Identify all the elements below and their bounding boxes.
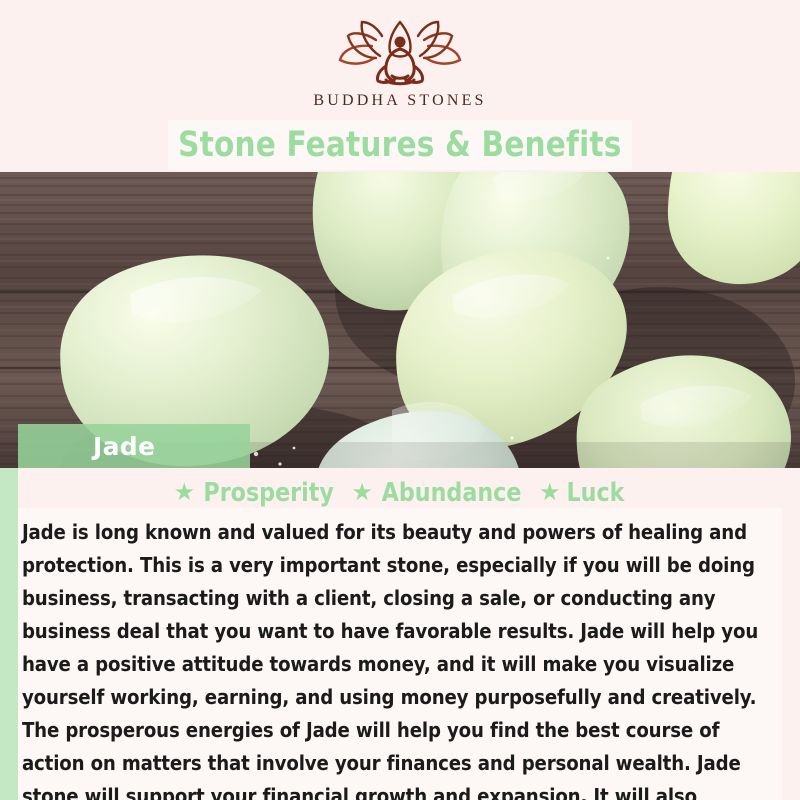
star-icon: ★: [539, 481, 561, 505]
description-text: Jade is long known and valued for its be…: [18, 516, 771, 800]
page-title: Stone Features & Benefits: [178, 125, 621, 165]
benefit-item-abundance: ★ Abundance: [351, 478, 525, 508]
section-title-banner: Stone Features & Benefits: [168, 120, 632, 170]
brand-name: BUDDHA STONES: [0, 92, 800, 110]
infographic-page: BUDDHA STONES Stone Features & Benefits: [0, 0, 800, 800]
benefit-label: Luck: [567, 478, 625, 508]
benefit-label: Abundance: [382, 478, 522, 508]
stone-name-label: Jade: [93, 432, 155, 461]
description-panel: Jade is long known and valued for its be…: [18, 508, 782, 800]
benefit-item-luck: ★ Luck: [539, 478, 627, 508]
stone-name-badge: Jade: [18, 424, 250, 468]
benefit-item-prosperity: ★ Prosperity: [174, 478, 338, 508]
benefit-label: Prosperity: [203, 478, 333, 508]
star-icon: ★: [174, 481, 196, 505]
benefits-row: ★ Prosperity ★ Abundance ★ Luck: [0, 478, 800, 508]
star-icon: ★: [351, 481, 373, 505]
brand-logo-block: BUDDHA STONES: [0, 18, 800, 110]
lotus-meditation-logo-icon: [330, 18, 470, 90]
